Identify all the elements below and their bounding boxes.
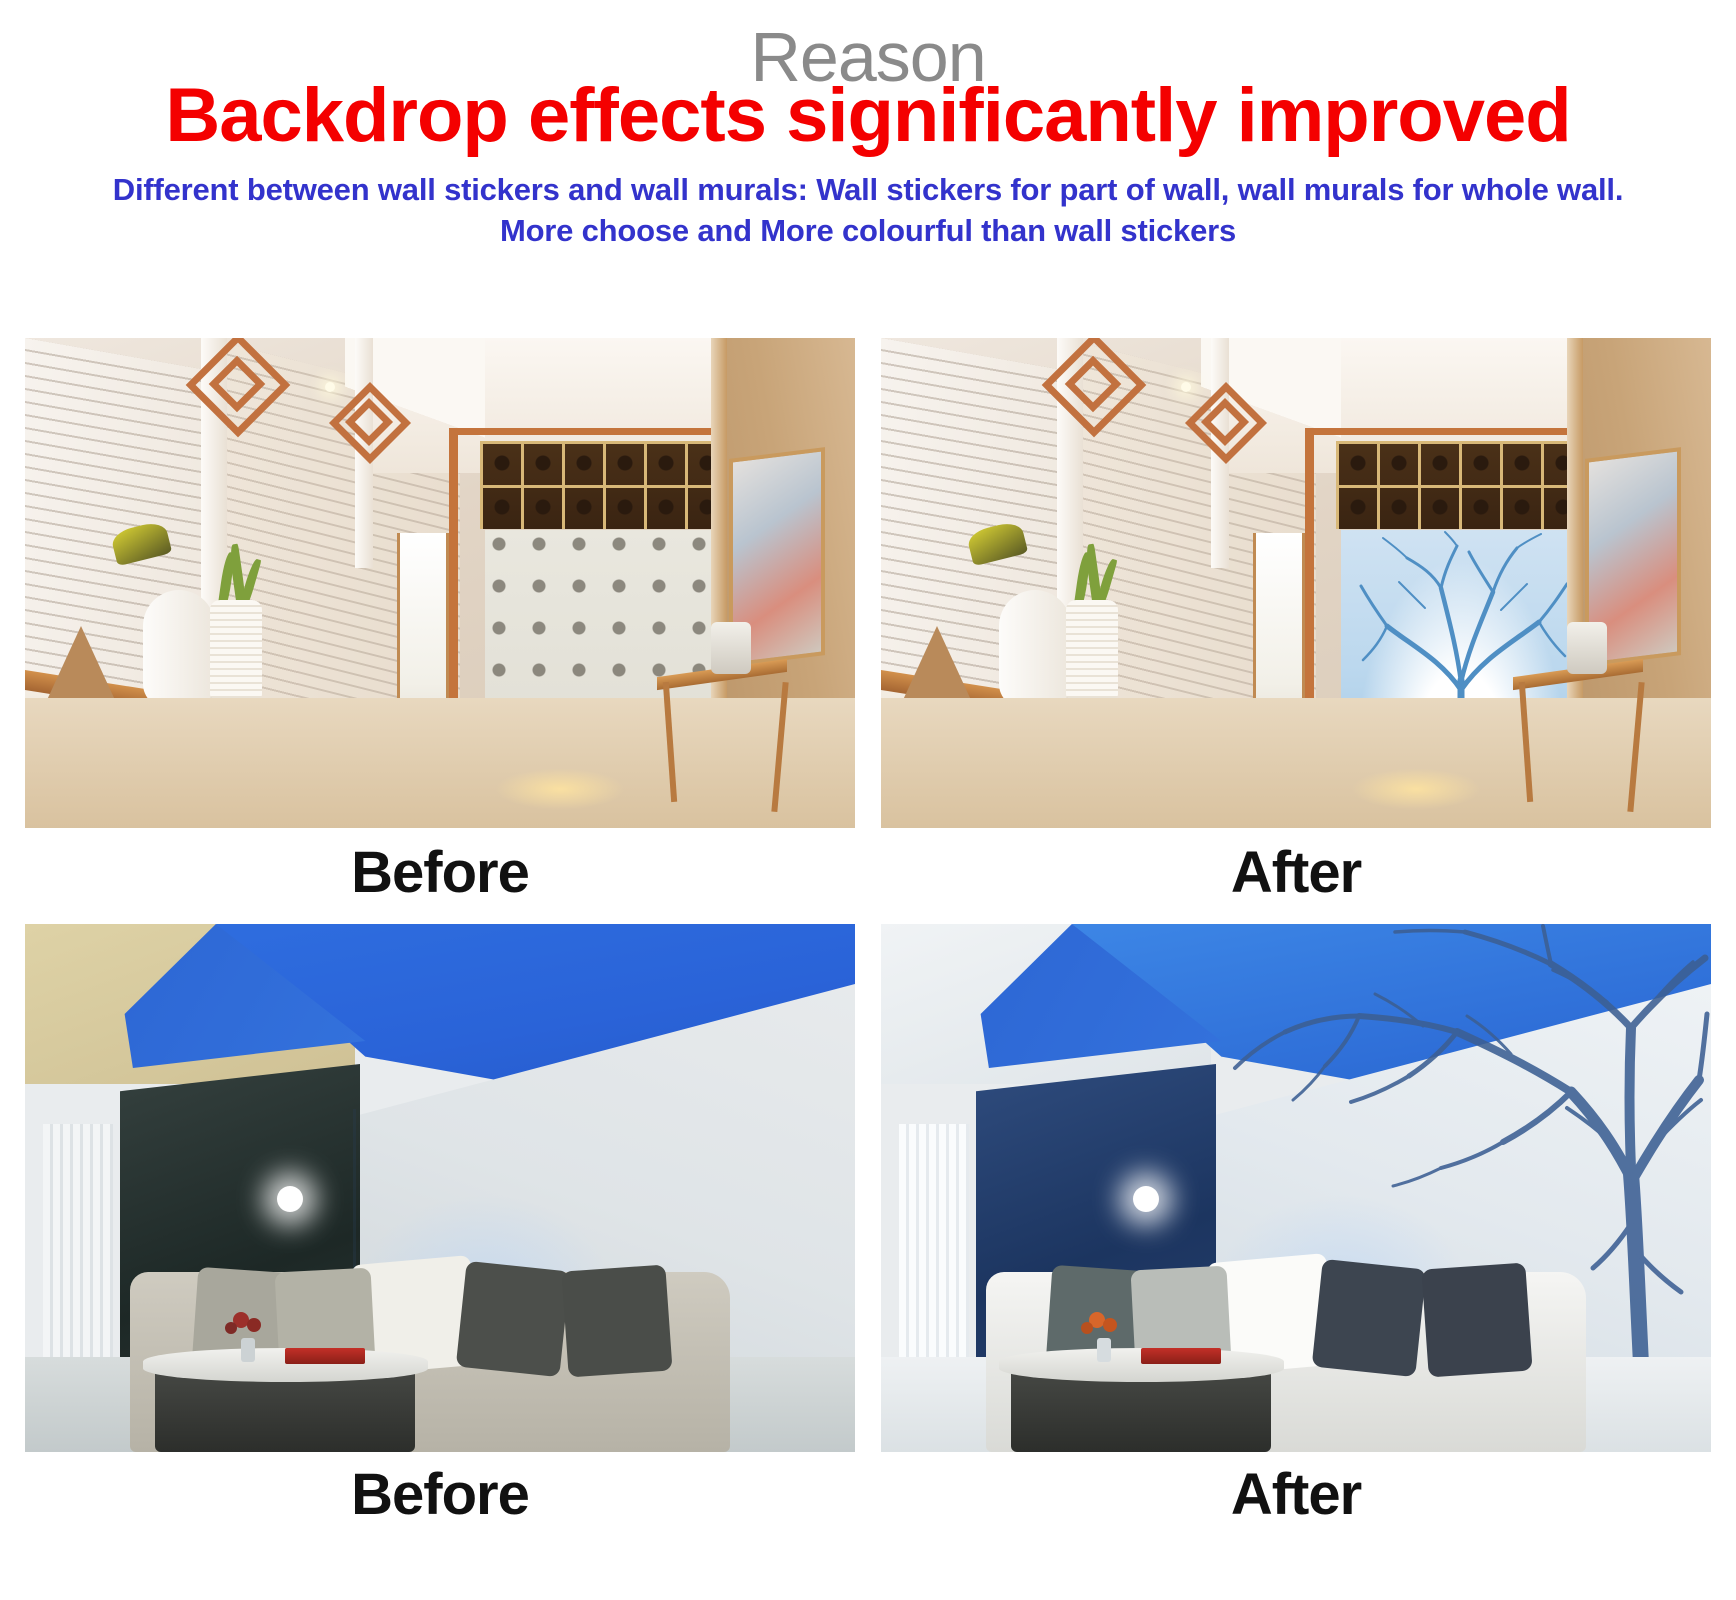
panel-caption: Before (25, 1452, 855, 1524)
panel-caption: After (881, 1452, 1711, 1524)
subtitle-line-2: More choose and More colourful than wall… (0, 211, 1736, 252)
photo-livingroom-before (25, 924, 855, 1452)
comparison-grid: Before (0, 338, 1736, 1524)
subtitle-line-1: Different between wall stickers and wall… (113, 172, 1623, 207)
subtitle-block: Different between wall stickers and wall… (0, 154, 1736, 252)
panel-hallway-after: After (881, 338, 1711, 902)
photo-hallway-before (25, 338, 855, 828)
panel-caption: Before (25, 828, 855, 902)
page-header: Reason Backdrop effects significantly im… (0, 0, 1736, 252)
page-title: Backdrop effects significantly improved (0, 78, 1736, 154)
comparison-row-livingroom: Before (0, 924, 1736, 1524)
panel-livingroom-after: After (881, 924, 1711, 1524)
comparison-row-hallway: Before (0, 338, 1736, 902)
photo-hallway-after (881, 338, 1711, 828)
photo-livingroom-after (881, 924, 1711, 1452)
panel-livingroom-before: Before (25, 924, 855, 1524)
panel-hallway-before: Before (25, 338, 855, 902)
panel-caption: After (881, 828, 1711, 902)
